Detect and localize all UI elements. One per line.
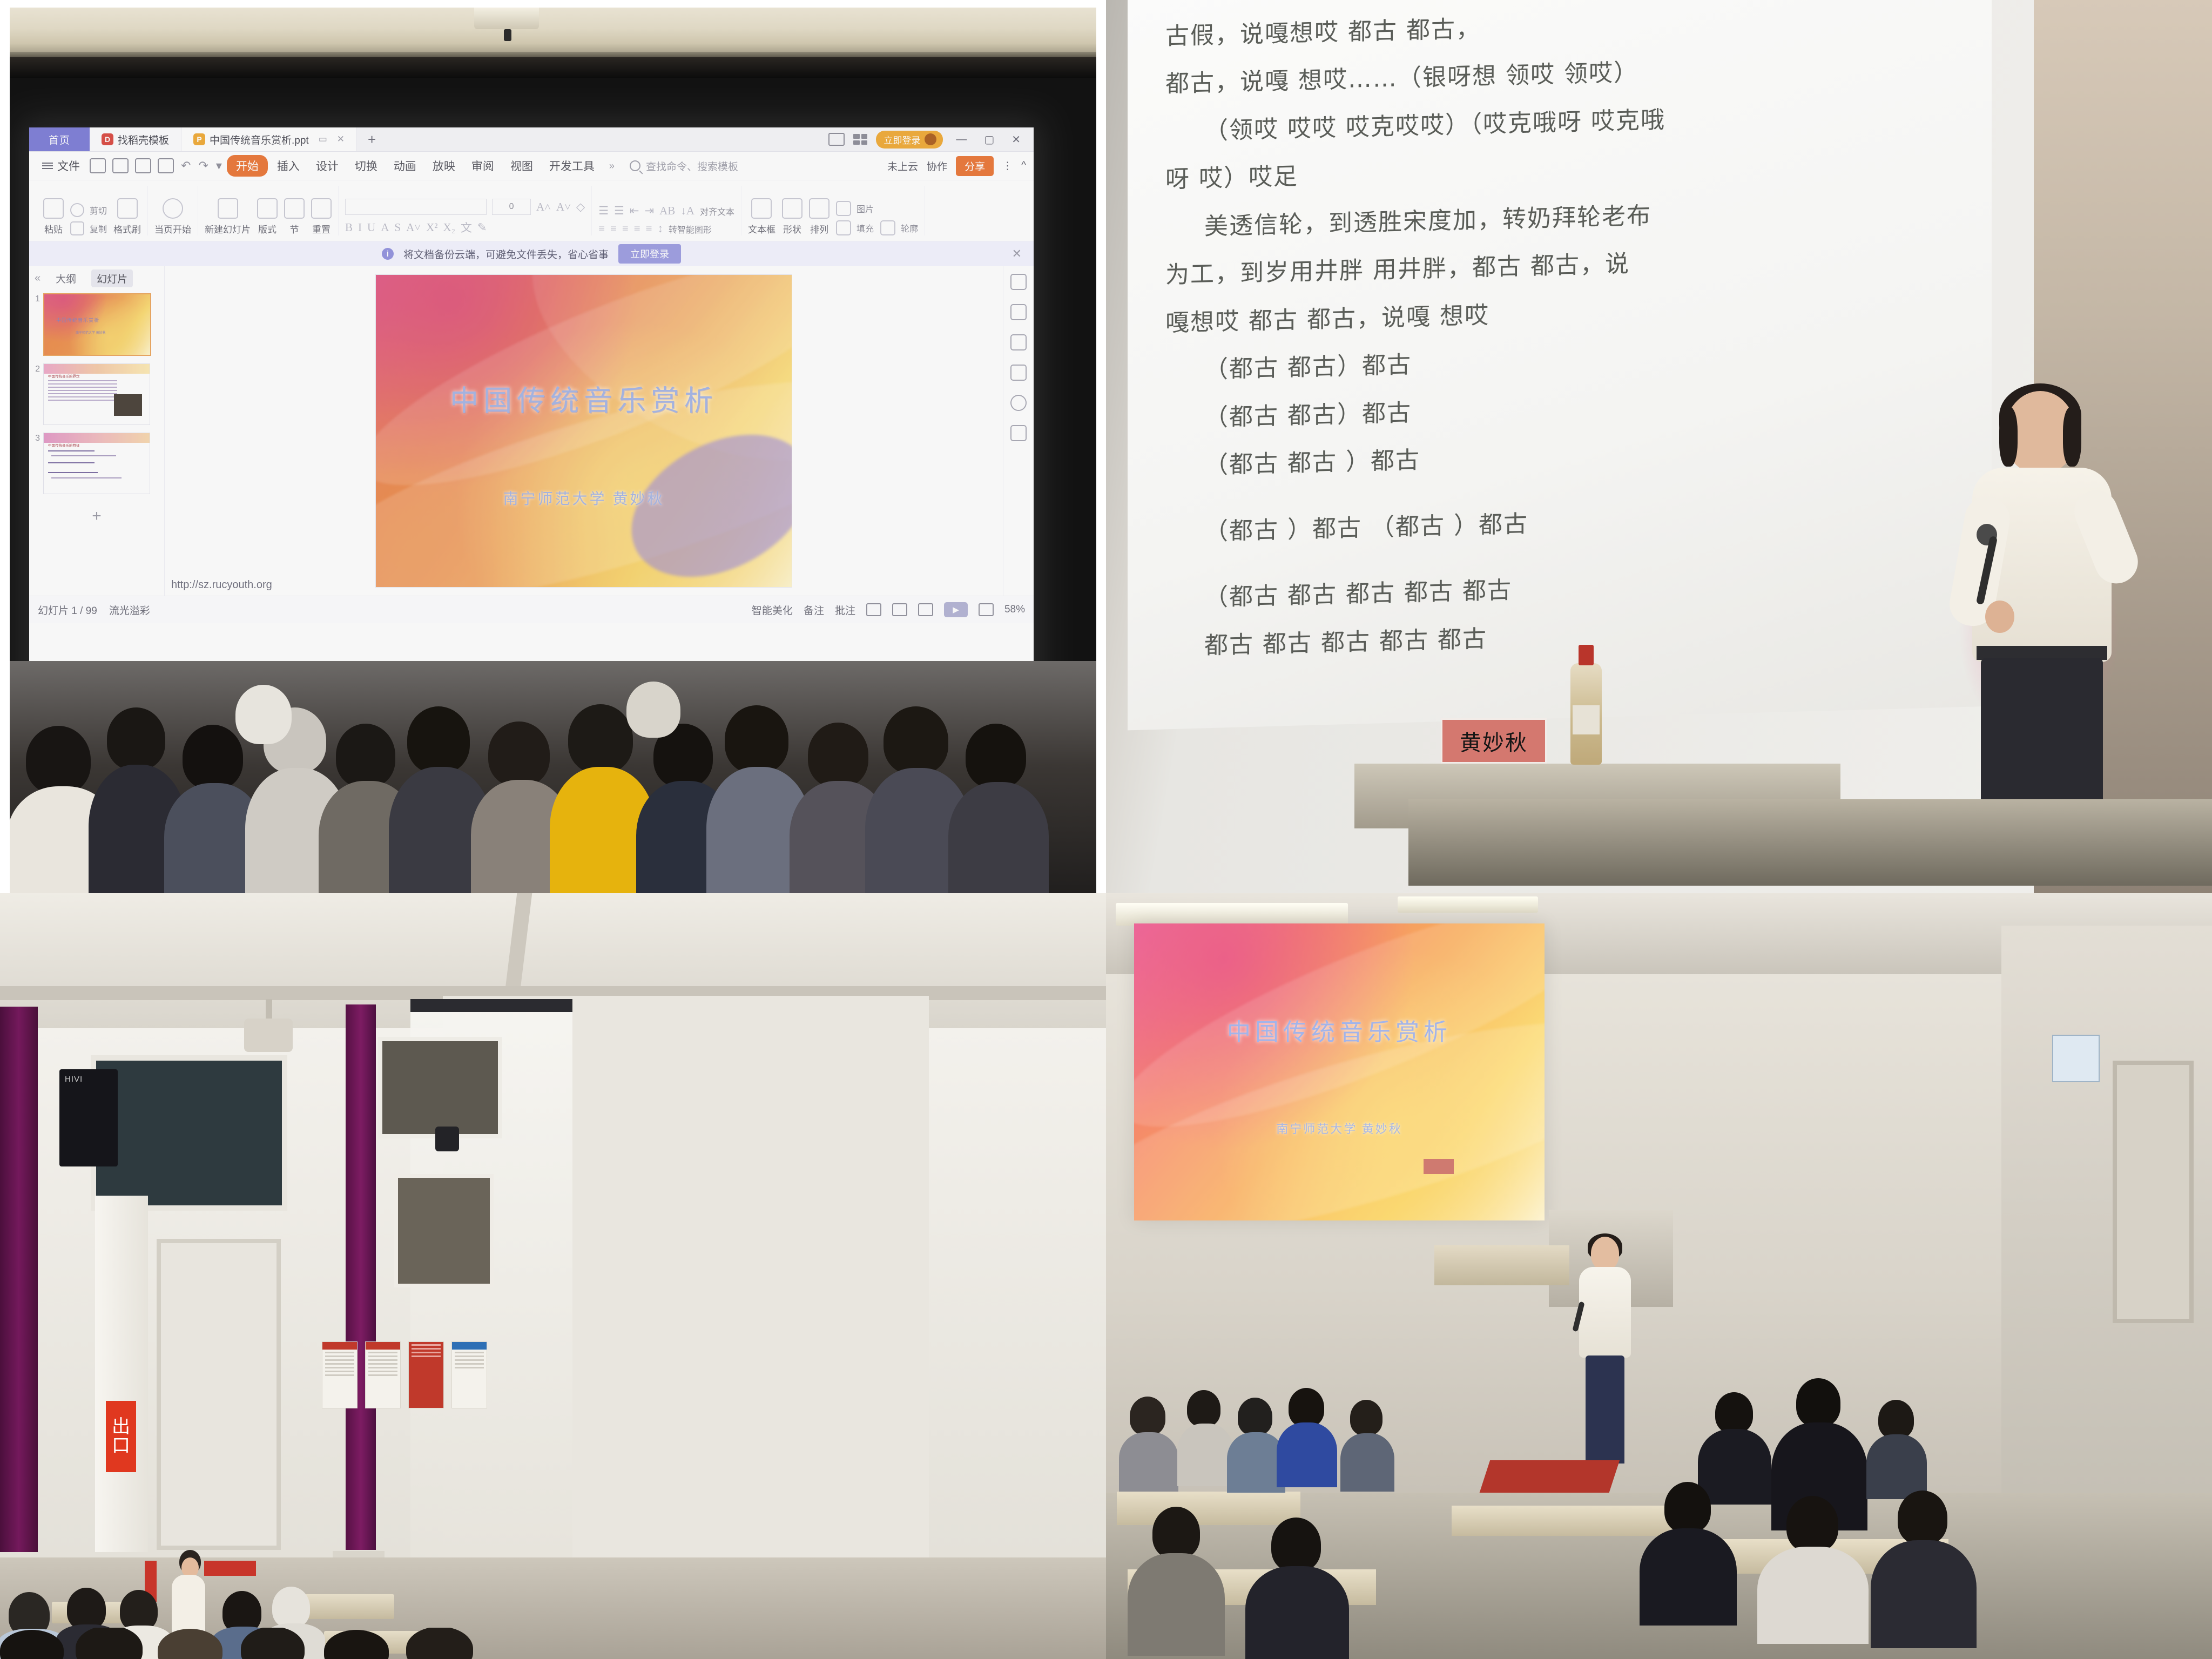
wps-status-bar: 幻灯片 1 / 99 流光溢彩 智能美化 备注 批注 ▶ bbox=[29, 596, 1034, 623]
security-camera bbox=[435, 1127, 459, 1151]
justify-icon[interactable]: ≡ bbox=[634, 222, 640, 235]
cut-label: 剪切 bbox=[90, 204, 107, 217]
curtain-left bbox=[0, 1007, 38, 1552]
menu-tab-slideshow[interactable]: 放映 bbox=[426, 156, 462, 176]
sort-icon[interactable]: ↓A bbox=[680, 204, 694, 218]
ceiling-light-2 bbox=[1398, 896, 1538, 913]
format-painter-button[interactable]: 格式刷 bbox=[113, 198, 141, 235]
tab-home[interactable]: 首页 bbox=[29, 127, 90, 151]
copy-label: 复制 bbox=[90, 222, 107, 235]
format-painter-icon bbox=[117, 198, 138, 219]
fill-button[interactable]: 填充 bbox=[836, 220, 874, 235]
collapse-ribbon-icon[interactable]: ^ bbox=[1021, 160, 1026, 172]
wall-posters bbox=[322, 1341, 487, 1408]
new-slide-label: 新建幻灯片 bbox=[205, 222, 251, 235]
tab-home-label: 首页 bbox=[49, 132, 70, 147]
wall-notice bbox=[2052, 1035, 2100, 1082]
poster-2 bbox=[365, 1341, 401, 1408]
menu-tab-start[interactable]: 开始 bbox=[227, 155, 268, 177]
menu-tab-design[interactable]: 设计 bbox=[309, 156, 346, 176]
distribute-icon[interactable]: ≡ bbox=[646, 222, 652, 235]
tab-docer-template[interactable]: D 找稻壳模板 bbox=[90, 127, 181, 151]
wps-tabbar: 首页 D 找稻壳模板 P 中国传统音乐赏析.ppt ▭ ✕ bbox=[29, 127, 1034, 152]
increase-indent-icon[interactable]: ⇥ bbox=[644, 204, 654, 218]
picture-icon bbox=[836, 201, 851, 216]
thumbnail-number: 1 bbox=[31, 293, 40, 304]
info-icon: i bbox=[382, 248, 394, 260]
torso bbox=[1579, 1267, 1631, 1358]
align-left-icon[interactable]: ≡ bbox=[598, 222, 605, 235]
undo-icon[interactable]: ↶ bbox=[178, 159, 193, 173]
collapse-pane-icon[interactable]: « bbox=[35, 272, 41, 285]
beautify-button[interactable]: 智能美化 bbox=[752, 603, 793, 617]
bold-button[interactable]: B bbox=[345, 221, 353, 234]
poster-3-red bbox=[408, 1341, 444, 1408]
ribbon-group-start: 当页开始 bbox=[148, 186, 198, 235]
panel-classroom-wide-view: HIVI 出 口 bbox=[0, 893, 1106, 1659]
wps-ribbon-toolbar: 粘贴 剪切 复制 bbox=[29, 180, 1034, 241]
ceiling-light-1 bbox=[1116, 903, 1348, 926]
ceiling-strip bbox=[10, 8, 1096, 57]
ribbon-group-insert: 文本框 形状 排列 bbox=[741, 186, 925, 235]
text-shadow-button[interactable]: A bbox=[381, 221, 389, 234]
speaker-brand-label: HIVI bbox=[65, 1075, 83, 1084]
poster-4 bbox=[451, 1341, 487, 1408]
align-text-label[interactable]: 对齐文本 bbox=[700, 205, 734, 218]
projection-screen-frame: 首页 D 找稻壳模板 P 中国传统音乐赏析.ppt ▭ ✕ bbox=[10, 57, 1096, 893]
italic-button[interactable]: I bbox=[358, 221, 362, 234]
arrange-icon bbox=[809, 198, 829, 219]
decrease-font-icon[interactable]: A˅ bbox=[556, 200, 571, 214]
list-item[interactable]: 1 中国传统音乐赏析 南宁师范大学 黄妙秋 bbox=[31, 293, 162, 356]
minimize-button[interactable]: — bbox=[952, 133, 971, 146]
fit-to-window-icon[interactable] bbox=[979, 603, 994, 616]
menu-tab-review[interactable]: 审阅 bbox=[464, 156, 501, 176]
door bbox=[2113, 1061, 2194, 1323]
menu-tab-transition[interactable]: 切换 bbox=[348, 156, 385, 176]
projection-screen: 中国传统音乐赏析 南宁师范大学 黄妙秋 bbox=[1134, 923, 1545, 1220]
slide-sorter-icon[interactable] bbox=[892, 603, 907, 616]
font-size-select[interactable]: 0 bbox=[492, 199, 531, 215]
tab-preview-icon[interactable]: ▭ bbox=[319, 134, 327, 145]
textbox-label: 文本框 bbox=[748, 222, 775, 235]
bullet-list-icon[interactable]: ☰ bbox=[598, 204, 609, 218]
hamburger-icon bbox=[42, 163, 53, 169]
thumbnail-number: 2 bbox=[31, 363, 40, 374]
paste-icon bbox=[43, 198, 64, 219]
right-tool-rail bbox=[1003, 266, 1034, 596]
pane-tab-slides[interactable]: 幻灯片 bbox=[91, 269, 133, 287]
search-icon bbox=[630, 160, 640, 171]
titlebar-right: 立即登录 — ▢ ✕ bbox=[828, 127, 1034, 151]
exit-pillar bbox=[95, 1196, 148, 1552]
tab-docer-label: 找稻壳模板 bbox=[118, 132, 169, 147]
list-item[interactable]: 2 中国传统音乐的界定 bbox=[31, 363, 162, 425]
maximize-button[interactable]: ▢ bbox=[980, 133, 999, 146]
subscript-button[interactable]: X₂ bbox=[443, 221, 456, 234]
slide-subtitle[interactable]: 南宁师范大学 黄妙秋 bbox=[376, 487, 792, 509]
cut-button[interactable]: 剪切 bbox=[70, 203, 107, 217]
exit-sign-char-2: 口 bbox=[112, 1437, 130, 1455]
notification-login-button[interactable]: 立即登录 bbox=[618, 244, 681, 264]
collaborate-button[interactable]: 协作 bbox=[927, 159, 947, 173]
search-input[interactable]: 查找命令、搜索模板 bbox=[630, 159, 738, 173]
audience-front-row bbox=[0, 1628, 1106, 1659]
section-button[interactable]: 节 bbox=[284, 198, 305, 235]
audience-silhouettes bbox=[1106, 1368, 2212, 1659]
reading-mode-icon[interactable] bbox=[1010, 425, 1027, 441]
paste-label: 粘贴 bbox=[44, 222, 63, 235]
outline-label: 轮廓 bbox=[901, 221, 918, 234]
nameplate: 黄妙秋 bbox=[1441, 718, 1547, 764]
start-here-label: 当页开始 bbox=[154, 222, 191, 235]
reading-view-icon[interactable] bbox=[918, 603, 933, 616]
shape-icon bbox=[782, 198, 802, 219]
menu-overflow-icon[interactable]: » bbox=[604, 160, 620, 172]
wps-editor-body: « 大纲 幻灯片 1 中国传统音乐赏析 bbox=[29, 266, 1034, 596]
shape-button[interactable]: 形状 bbox=[782, 198, 802, 235]
underline-button[interactable]: U bbox=[367, 221, 375, 234]
outline-button[interactable]: 轮廓 bbox=[880, 220, 918, 235]
projected-lyrics-text: 古假，说嘎想哎 都古 都古， 都古，说嘎 想哎……（银呀想 领哎 领哎） （领哎… bbox=[1165, 0, 1878, 672]
menu-right-actions: 未上云 协作 分享 ⋮ ^ bbox=[887, 156, 1026, 176]
panel-lecture-hall-projection: 首页 D 找稻壳模板 P 中国传统音乐赏析.ppt ▭ ✕ bbox=[0, 0, 1106, 893]
ribbon-group-paragraph: ☰ ☰ ⇤ ⇥ AB ↓A 对齐文本 ≡ bbox=[592, 186, 741, 235]
increase-font-icon[interactable]: A˄ bbox=[536, 200, 551, 214]
cloud-backup-notification: i 将文档备份云端，可避免文件丢失，省心省事 立即登录 ✕ bbox=[29, 241, 1034, 266]
to-smartart-label[interactable]: 转智能图形 bbox=[669, 222, 712, 235]
nameplate bbox=[1424, 1159, 1454, 1174]
character-spacing-button[interactable]: A˅ bbox=[406, 221, 421, 234]
exit-sign-char-1: 出 bbox=[112, 1418, 130, 1437]
menu-tab-view[interactable]: 视图 bbox=[503, 156, 540, 176]
idea-bulb-icon[interactable] bbox=[1010, 395, 1027, 411]
export-image-icon[interactable] bbox=[1010, 365, 1027, 381]
redo-icon[interactable]: ↷ bbox=[195, 159, 211, 173]
ceiling-sensor bbox=[504, 29, 511, 41]
tab-document[interactable]: P 中国传统音乐赏析.ppt ▭ ✕ bbox=[181, 127, 357, 151]
projector bbox=[244, 1019, 293, 1052]
reset-icon bbox=[311, 198, 332, 219]
screen-roller bbox=[410, 999, 572, 1012]
thumbnail-3-title: 中国传统音乐的特征 bbox=[48, 443, 80, 449]
stage-edge bbox=[1408, 799, 2212, 886]
ribbon-options-icon[interactable]: ⋮ bbox=[1002, 160, 1013, 172]
avatar bbox=[925, 133, 936, 145]
ribbon-group-clipboard: 粘贴 剪切 复制 bbox=[37, 186, 148, 235]
ceiling-mount bbox=[474, 8, 539, 29]
reset-button[interactable]: 重置 bbox=[311, 198, 332, 235]
slideshow-button[interactable]: ▶ bbox=[944, 602, 968, 617]
zoom-level[interactable]: 58% bbox=[1004, 604, 1025, 616]
screenshot-icon[interactable] bbox=[1010, 334, 1027, 350]
copy-button[interactable]: 复制 bbox=[70, 221, 107, 235]
poster-1 bbox=[322, 1341, 358, 1408]
save-icon[interactable] bbox=[90, 158, 106, 173]
slide-thumbnail-pane: « 大纲 幻灯片 1 中国传统音乐赏析 bbox=[29, 266, 165, 596]
shape-label: 形状 bbox=[783, 222, 801, 235]
window-upper-right bbox=[378, 1037, 502, 1138]
section-label: 节 bbox=[290, 222, 299, 235]
panel-lecturer-and-lyrics-screen: 古假，说嘎想哎 都古 都古， 都古，说嘎 想哎……（银呀想 领哎 领哎） （领哎… bbox=[1106, 0, 2212, 893]
wps-presentation-window: 首页 D 找稻壳模板 P 中国传统音乐赏析.ppt ▭ ✕ bbox=[29, 127, 1034, 697]
textbox-icon bbox=[751, 198, 772, 219]
notification-text: 将文档备份云端，可避免文件丢失，省心省事 bbox=[403, 247, 609, 261]
thumbnail-slide-2[interactable]: 中国传统音乐的界定 bbox=[43, 363, 150, 425]
font-family-select[interactable] bbox=[345, 199, 487, 215]
file-menu-label: 文件 bbox=[57, 158, 80, 174]
new-slide-button[interactable]: 新建幻灯片 bbox=[205, 198, 251, 235]
front-table bbox=[1434, 1245, 1569, 1285]
exit-sign: 出 口 bbox=[106, 1401, 136, 1472]
pane-tab-outline[interactable]: 大纲 bbox=[50, 269, 82, 287]
close-icon[interactable]: ✕ bbox=[337, 134, 345, 145]
hair-right bbox=[2063, 407, 2081, 467]
line-spacing-icon[interactable]: ↕ bbox=[657, 222, 663, 235]
layout-button[interactable]: 版式 bbox=[257, 198, 278, 235]
file-menu-button[interactable]: 文件 bbox=[37, 158, 85, 174]
panel-lecture-room-from-back: 中国传统音乐赏析 南宁师范大学 黄妙秋 bbox=[1106, 893, 2212, 1659]
menu-tab-animation[interactable]: 动画 bbox=[387, 156, 423, 176]
superscript-button[interactable]: X² bbox=[426, 221, 437, 234]
align-center-icon[interactable]: ≡ bbox=[610, 222, 617, 235]
settings-sliders-icon[interactable] bbox=[1010, 274, 1027, 290]
format-painter-label: 格式刷 bbox=[113, 222, 141, 235]
arrange-button[interactable]: 排列 bbox=[809, 198, 829, 235]
audience-silhouettes bbox=[10, 661, 1096, 893]
thumbnail-slide-1[interactable]: 中国传统音乐赏析 南宁师范大学 黄妙秋 bbox=[43, 293, 151, 356]
canvas-url-text: http://sz.rucyouth.org bbox=[171, 579, 272, 591]
login-label: 立即登录 bbox=[884, 133, 920, 146]
hair-left bbox=[1999, 407, 2018, 467]
text-direction-icon[interactable]: AB bbox=[659, 204, 675, 218]
scissors-icon bbox=[70, 203, 84, 217]
numbered-list-icon[interactable]: ☰ bbox=[614, 204, 624, 218]
pinyin-guide-icon[interactable]: 文 bbox=[461, 219, 472, 235]
textbox-button[interactable]: 文本框 bbox=[748, 198, 775, 235]
outline-icon bbox=[880, 220, 895, 235]
head bbox=[1591, 1237, 1619, 1270]
comments-button[interactable]: 批注 bbox=[835, 603, 855, 617]
photo-collage: 首页 D 找稻壳模板 P 中国传统音乐赏析.ppt ▭ ✕ bbox=[0, 0, 2212, 1659]
play-circle-icon bbox=[163, 198, 183, 219]
pane-header: « 大纲 幻灯片 bbox=[29, 266, 164, 290]
start-from-current-button[interactable]: 当页开始 bbox=[154, 198, 191, 235]
fill-icon bbox=[836, 220, 851, 235]
window-lower-right bbox=[394, 1174, 494, 1287]
print-icon[interactable] bbox=[135, 158, 151, 173]
slide-canvas[interactable]: 中国传统音乐赏析 南宁师范大学 黄妙秋 http://sz.rucyouth.o… bbox=[165, 266, 1003, 596]
water-bottle bbox=[1570, 663, 1602, 765]
picture-label: 图片 bbox=[857, 202, 874, 215]
search-placeholder: 查找命令、搜索模板 bbox=[646, 159, 738, 173]
thumbnail-1-subtitle: 南宁师范大学 黄妙秋 bbox=[76, 331, 106, 336]
slide-title[interactable]: 中国传统音乐赏析 bbox=[376, 378, 792, 419]
docer-icon: D bbox=[102, 133, 113, 145]
app-grid-icon[interactable] bbox=[853, 134, 867, 145]
decrease-indent-icon[interactable]: ⇤ bbox=[630, 204, 639, 218]
ribbon-group-font: 0 A˄ A˅ ◇ B I U A bbox=[339, 186, 592, 235]
tab-document-label: 中国传统音乐赏析.ppt bbox=[210, 132, 309, 147]
notification-close-icon[interactable]: ✕ bbox=[1012, 247, 1022, 261]
arrange-label: 排列 bbox=[810, 222, 828, 235]
slide-subtitle: 南宁师范大学 黄妙秋 bbox=[1134, 1120, 1545, 1137]
new-tab-button[interactable]: + bbox=[357, 127, 387, 151]
picture-button[interactable]: 图片 bbox=[836, 201, 874, 216]
print-preview-icon[interactable] bbox=[158, 158, 174, 173]
reset-label: 重置 bbox=[312, 222, 331, 235]
window-close-button[interactable]: ✕ bbox=[1007, 133, 1025, 146]
hand bbox=[1985, 601, 2014, 633]
fill-label: 填充 bbox=[857, 221, 874, 234]
copy-icon bbox=[70, 221, 84, 235]
menu-tab-insert[interactable]: 插入 bbox=[270, 156, 307, 176]
align-right-icon[interactable]: ≡ bbox=[622, 222, 629, 235]
strikethrough-button[interactable]: S bbox=[394, 221, 401, 234]
doorway bbox=[157, 1239, 281, 1550]
normal-view-icon[interactable] bbox=[866, 603, 881, 616]
save-as-icon[interactable] bbox=[112, 158, 129, 173]
notes-button[interactable]: 备注 bbox=[804, 603, 824, 617]
menu-tab-devtools[interactable]: 开发工具 bbox=[542, 156, 602, 176]
section-icon bbox=[284, 198, 305, 219]
wps-menu-bar: 文件 ↶ ↷ ▾ 开始 插入 设计 切换 bbox=[29, 152, 1034, 180]
slide-counter: 幻灯片 1 / 99 bbox=[38, 603, 97, 617]
login-button[interactable]: 立即登录 bbox=[876, 131, 943, 149]
list-item[interactable]: 3 中国传统音乐的特征 bbox=[31, 433, 162, 494]
paste-button[interactable]: 粘贴 bbox=[43, 198, 64, 235]
add-slide-button[interactable]: + bbox=[31, 502, 162, 531]
share-button[interactable]: 分享 bbox=[956, 156, 994, 176]
clear-format-icon[interactable]: ◇ bbox=[576, 200, 585, 214]
layout-view-icon[interactable] bbox=[828, 133, 845, 146]
curtain-right bbox=[346, 1004, 376, 1550]
ppt-icon: P bbox=[193, 133, 205, 145]
projector-mount bbox=[266, 999, 272, 1021]
thumbnail-list: 1 中国传统音乐赏析 南宁师范大学 黄妙秋 2 bbox=[29, 290, 164, 596]
cloud-status[interactable]: 未上云 bbox=[887, 159, 918, 173]
qat-dropdown-icon[interactable]: ▾ bbox=[213, 159, 225, 173]
layout-icon bbox=[257, 198, 278, 219]
slide-title: 中国传统音乐赏析 bbox=[1134, 1013, 1545, 1047]
theme-name: 流光溢彩 bbox=[109, 603, 150, 617]
thumbnail-1-title: 中国传统音乐赏析 bbox=[56, 317, 99, 325]
new-slide-icon bbox=[218, 198, 238, 219]
highlight-icon[interactable]: ✎ bbox=[477, 221, 487, 234]
thumbnail-2-title: 中国传统音乐的界定 bbox=[48, 374, 80, 380]
thumbnail-number: 3 bbox=[31, 433, 40, 443]
lecturer-figure bbox=[1953, 391, 2131, 823]
window-left bbox=[91, 1055, 287, 1211]
favorites-star-icon[interactable] bbox=[1010, 304, 1027, 320]
wall-speaker bbox=[59, 1069, 118, 1166]
ribbon-group-slides: 新建幻灯片 版式 节 bbox=[198, 186, 339, 235]
layout-label: 版式 bbox=[258, 222, 276, 235]
thumbnail-slide-3[interactable]: 中国传统音乐的特征 bbox=[43, 433, 150, 494]
slide-current[interactable]: 中国传统音乐赏析 南宁师范大学 黄妙秋 bbox=[376, 275, 792, 587]
